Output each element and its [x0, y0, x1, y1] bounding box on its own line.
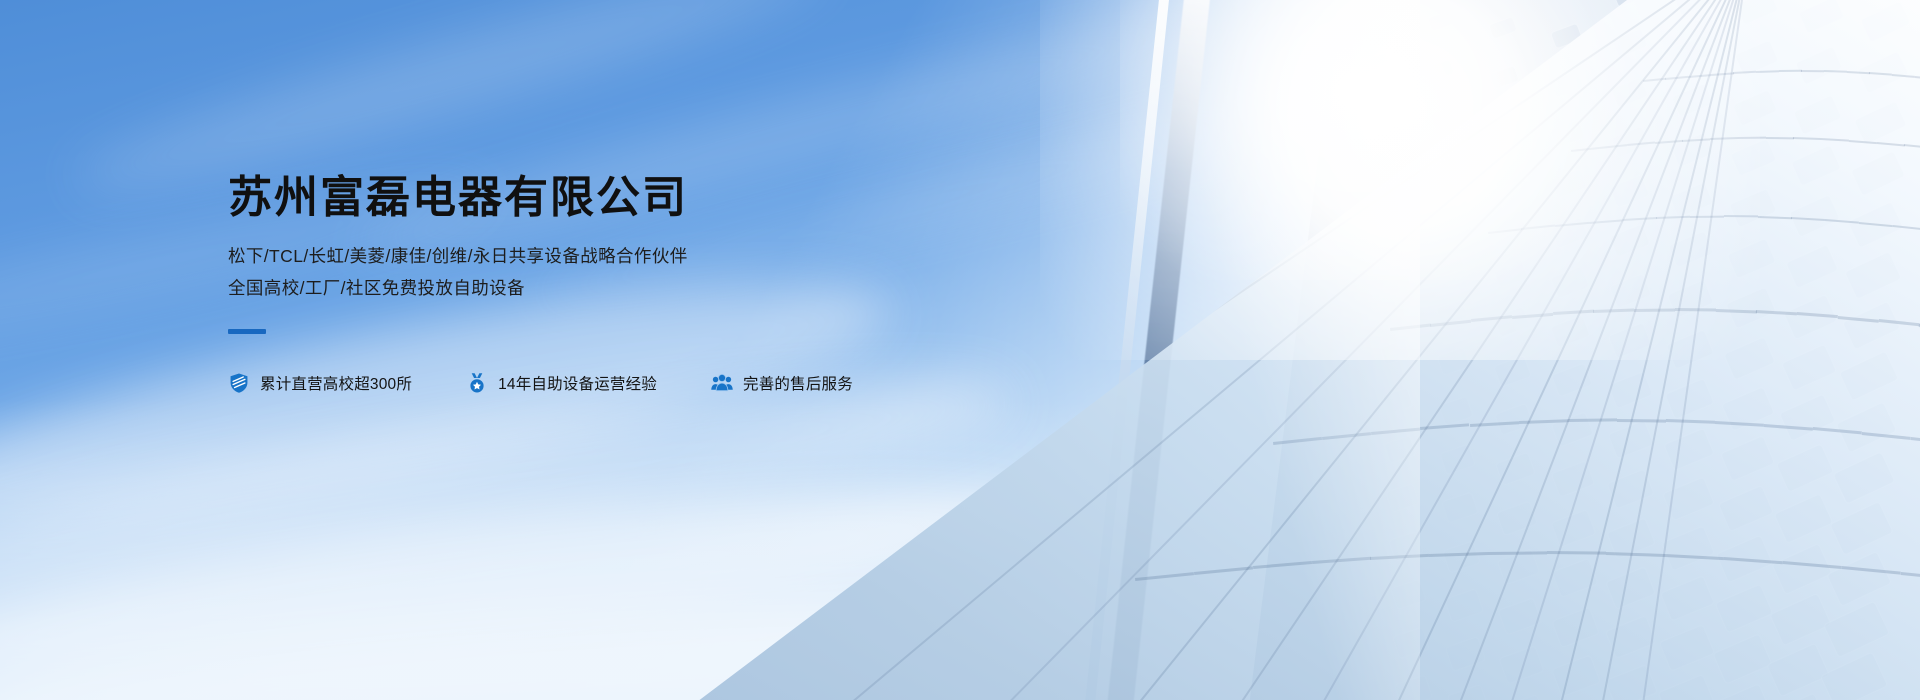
feature-item: 累计直营高校超300所 [228, 372, 412, 394]
shield-icon [228, 372, 250, 394]
accent-divider [228, 329, 266, 334]
feature-item: 14年自助设备运营经验 [466, 372, 657, 394]
feature-item: 完善的售后服务 [711, 372, 853, 394]
feature-list: 累计直营高校超300所 14年自助设备运营经验 [228, 372, 988, 394]
feature-label: 14年自助设备运营经验 [498, 372, 657, 394]
subtitle-line-1: 松下/TCL/长虹/美菱/康佳/创维/永日共享设备战略合作伙伴 [228, 240, 988, 272]
subtitle-line-2: 全国高校/工厂/社区免费投放自助设备 [228, 272, 988, 304]
feature-label: 累计直营高校超300所 [260, 372, 412, 394]
users-icon [711, 372, 733, 394]
subtitle-block: 松下/TCL/长虹/美菱/康佳/创维/永日共享设备战略合作伙伴 全国高校/工厂/… [228, 240, 988, 305]
medal-icon [466, 372, 488, 394]
hero-banner: 苏州富磊电器有限公司 松下/TCL/长虹/美菱/康佳/创维/永日共享设备战略合作… [0, 0, 1920, 700]
hero-content: 苏州富磊电器有限公司 松下/TCL/长虹/美菱/康佳/创维/永日共享设备战略合作… [228, 172, 988, 394]
feature-label: 完善的售后服务 [743, 372, 853, 394]
page-title: 苏州富磊电器有限公司 [228, 172, 988, 224]
